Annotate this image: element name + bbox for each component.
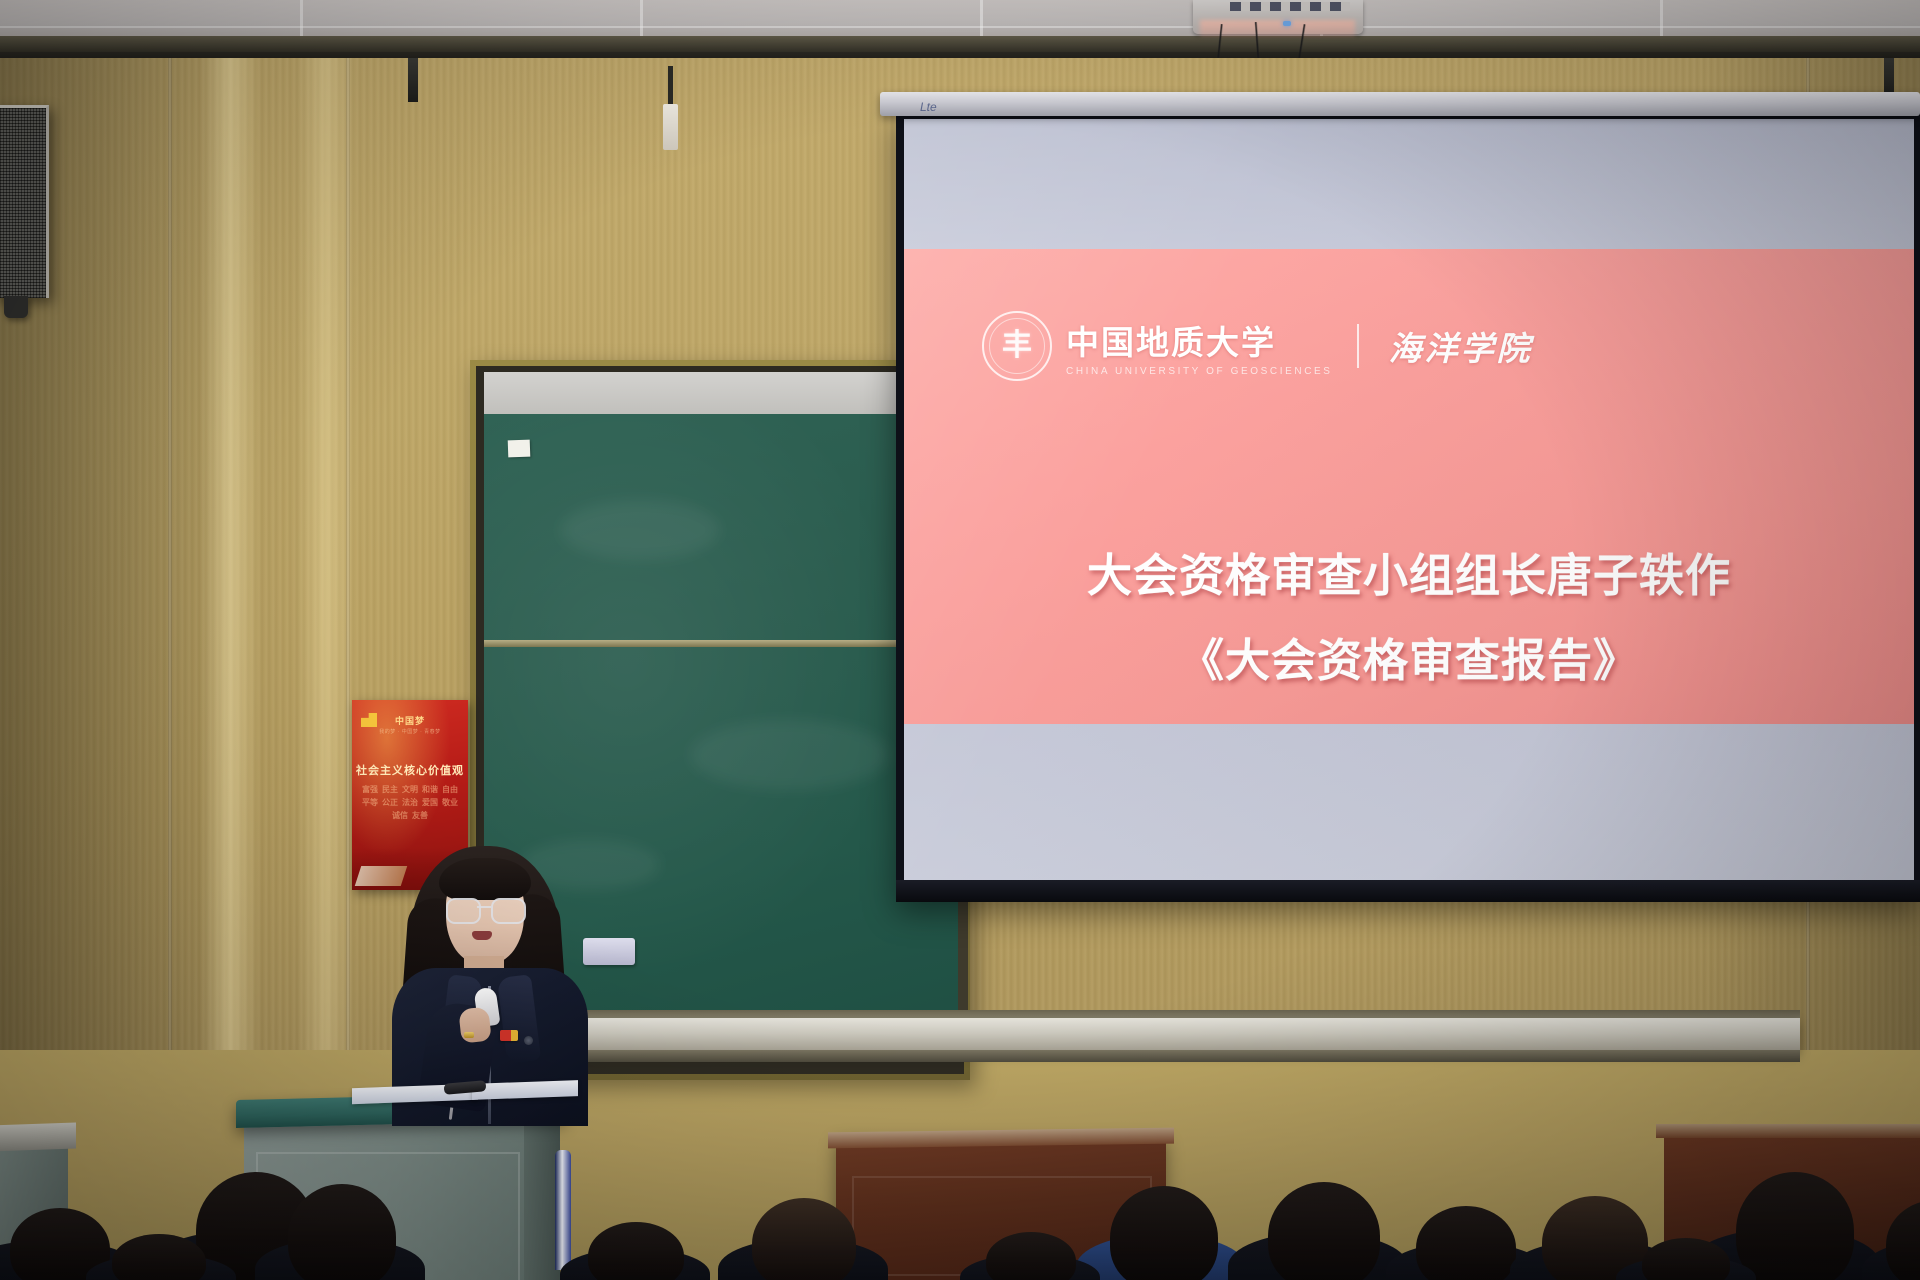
school-name-cn: 海洋学院 (1389, 322, 1533, 370)
poster-value: 诚信 (392, 810, 408, 821)
university-name-cn: 中国地质大学 (1066, 316, 1333, 364)
blackboard-divider-rail (484, 640, 958, 647)
screen-bracket (408, 58, 418, 102)
poster-value: 爱国 (422, 797, 438, 808)
slide-top-band (904, 119, 1914, 249)
poster-value: 友善 (412, 810, 428, 821)
mouth (472, 931, 492, 940)
slide-title-line-2: 《大会资格审查报告》 (930, 624, 1888, 689)
eyeglasses-icon (444, 898, 526, 920)
white-paper-note (508, 440, 531, 458)
hair-fringe (439, 858, 531, 900)
chalk-tray (470, 1018, 1800, 1052)
slide-content-area: 丰 中国地质大学 CHINA UNIVERSITY OF GEOSCIENCES… (904, 249, 1914, 724)
poster-value: 平等 (362, 797, 378, 808)
screen-roller-housing (880, 92, 1920, 116)
university-name-en: CHINA UNIVERSITY OF GEOSCIENCES (1066, 366, 1333, 377)
party-member-badge (500, 1030, 518, 1041)
speaker-mount (4, 296, 28, 318)
lapel-pin (524, 1036, 533, 1045)
audience-row (0, 1120, 1920, 1280)
roller-label: Lte (920, 100, 937, 114)
poster-subheading: 我的梦 · 中国梦 · 青春梦 (352, 728, 468, 735)
poster-value: 敬业 (442, 797, 458, 808)
poster-value: 民主 (382, 784, 398, 795)
poster-values-list: 富强 民主 文明 和谐 自由 平等 公正 法治 爱国 敬业 诚信 友善 (356, 784, 464, 821)
lecture-hall-photo: Lte 丰 中国地质大学 CHINA UNIVERSITY OF GEOSCIE… (0, 0, 1920, 1280)
blackboard-top-strip (484, 372, 958, 416)
projector-ports (1230, 2, 1350, 11)
projector-led-icon (1283, 21, 1291, 26)
poster-value: 自由 (442, 784, 458, 795)
projection-screen: 丰 中国地质大学 CHINA UNIVERSITY OF GEOSCIENCES… (896, 112, 1920, 902)
poster-value: 法治 (402, 797, 418, 808)
logo-divider (1357, 324, 1359, 368)
slide-title: 大会资格审查小组组长唐子轶作 《大会资格审查报告》 (904, 539, 1914, 689)
poster-heading: 中国梦 (352, 714, 468, 727)
poster-value: 和谐 (422, 784, 438, 795)
slide-canvas: 丰 中国地质大学 CHINA UNIVERSITY OF GEOSCIENCES… (904, 119, 1914, 880)
poster-value: 富强 (362, 784, 378, 795)
seal-glyph: 丰 (984, 331, 1050, 361)
ring (464, 1032, 474, 1038)
hand (458, 1007, 491, 1044)
university-seal-icon: 丰 (982, 311, 1052, 381)
screen-bottom-bar (896, 880, 1920, 902)
chalk-tray-underside (470, 1050, 1800, 1062)
screen-hanger-tip (663, 104, 678, 150)
poster-value: 文明 (402, 784, 418, 795)
slide-title-line-1: 大会资格审查小组组长唐子轶作 (930, 539, 1888, 604)
university-logo: 丰 中国地质大学 CHINA UNIVERSITY OF GEOSCIENCES… (982, 311, 1533, 381)
poster-value: 公正 (382, 797, 398, 808)
poster-main-text: 社会主义核心价值观 (352, 762, 468, 778)
wall-speaker (0, 105, 49, 298)
slide-bottom-band (904, 724, 1914, 880)
